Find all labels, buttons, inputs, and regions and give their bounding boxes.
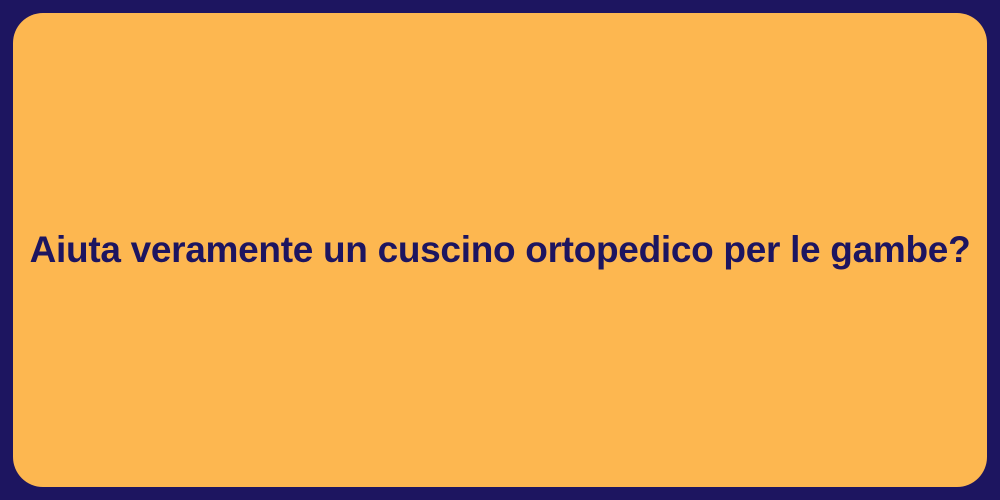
page-frame: Aiuta veramente un cuscino ortopedico pe… [0, 0, 1000, 500]
page-title: Aiuta veramente un cuscino ortopedico pe… [30, 227, 971, 273]
question-card: Aiuta veramente un cuscino ortopedico pe… [13, 13, 987, 487]
